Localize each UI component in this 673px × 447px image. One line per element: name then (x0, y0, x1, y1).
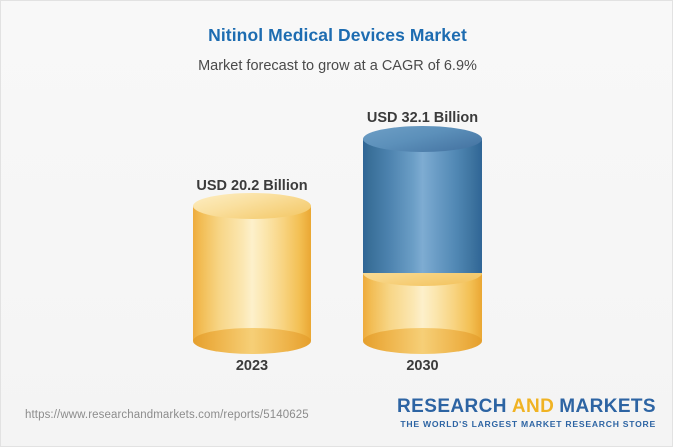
cylinder-bar-2030[interactable] (363, 139, 482, 341)
research-and-markets-logo[interactable]: RESEARCHANDMARKETS THE WORLD'S LARGEST M… (397, 397, 656, 429)
chart-title: Nitinol Medical Devices Market (1, 25, 673, 46)
plot-area: USD 20.2 Billion 2023 USD 32.1 Billion (1, 96, 673, 386)
brand-word-and: AND (512, 396, 554, 417)
bar-value-label-2023: USD 20.2 Billion (153, 178, 351, 194)
cylinder-body-2023 (193, 206, 311, 341)
axis-label-2023: 2023 (153, 358, 351, 374)
chart-canvas: Nitinol Medical Devices Market Market fo… (0, 0, 673, 447)
cylinder-segment-growth-2030 (363, 139, 482, 273)
brand-wordmark: RESEARCHANDMARKETS (397, 397, 656, 417)
cylinder-bar-2023[interactable] (193, 206, 311, 341)
bar-group-2030[interactable]: USD 32.1 Billion 2030 (363, 96, 482, 386)
cylinder-foot-2030 (363, 328, 482, 354)
chart-subtitle: Market forecast to grow at a CAGR of 6.9… (1, 58, 673, 74)
bar-group-2023[interactable]: USD 20.2 Billion 2023 (193, 96, 311, 386)
brand-word-markets: MARKETS (559, 396, 656, 417)
cylinder-top-cap-2030 (363, 126, 482, 152)
cylinder-body-blue-2030 (363, 139, 482, 273)
cylinder-segment-base-2023 (193, 206, 311, 341)
axis-label-2030: 2030 (323, 358, 522, 374)
chart-footer: https://www.researchandmarkets.com/repor… (1, 391, 673, 446)
cylinder-segment-base-2030 (363, 273, 482, 341)
bar-value-label-2030: USD 32.1 Billion (323, 110, 522, 126)
source-url-link[interactable]: https://www.researchandmarkets.com/repor… (25, 409, 309, 421)
cylinder-top-cap-2023 (193, 193, 311, 219)
cylinder-foot-2023 (193, 328, 311, 354)
brand-word-research: RESEARCH (397, 396, 507, 417)
brand-tagline: THE WORLD'S LARGEST MARKET RESEARCH STOR… (397, 419, 656, 429)
